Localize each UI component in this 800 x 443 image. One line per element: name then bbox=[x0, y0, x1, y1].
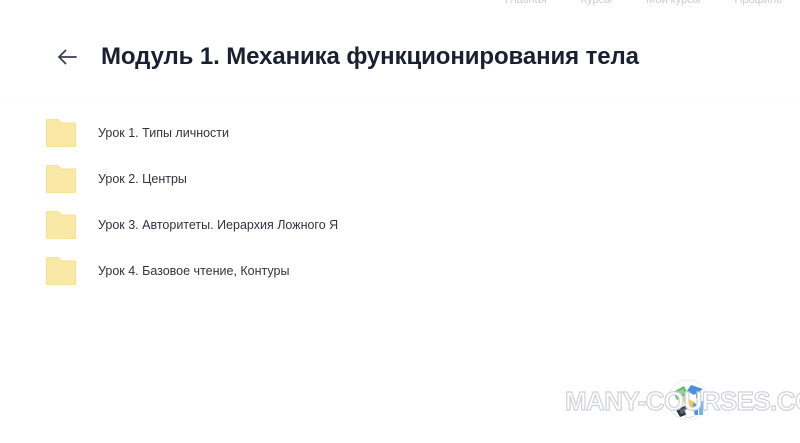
top-navigation-strip: Главная Курсы Мои курсы Профиль bbox=[0, 0, 800, 6]
top-nav-item[interactable]: Профиль bbox=[735, 0, 783, 6]
watermark: MANY-COURSES.COM bbox=[565, 372, 797, 428]
top-nav-item[interactable]: Курсы bbox=[581, 0, 612, 6]
top-nav-item[interactable]: Главная bbox=[505, 0, 547, 6]
list-item[interactable]: Урок 2. Центры bbox=[0, 156, 800, 202]
arrow-left-icon bbox=[56, 48, 78, 66]
header-divider bbox=[0, 103, 800, 104]
list-item-label: Урок 1. Типы личности bbox=[98, 125, 229, 141]
top-nav-item[interactable]: Мои курсы bbox=[646, 0, 700, 6]
list-item-label: Урок 2. Центры bbox=[98, 171, 187, 187]
page-root: Главная Курсы Мои курсы Профиль Модуль 1… bbox=[0, 0, 800, 443]
list-item-label: Урок 3. Авторитеты. Иерархия Ложного Я bbox=[98, 217, 338, 233]
list-item[interactable]: Урок 1. Типы личности bbox=[0, 110, 800, 156]
back-button[interactable] bbox=[54, 44, 80, 70]
list-item-label: Урок 4. Базовое чтение, Контуры bbox=[98, 263, 289, 279]
watermark-text: MANY-COURSES.COM bbox=[565, 386, 797, 416]
folder-icon bbox=[46, 211, 76, 239]
list-item[interactable]: Урок 3. Авторитеты. Иерархия Ложного Я bbox=[0, 202, 800, 248]
page-title: Модуль 1. Механика функционирования тела bbox=[101, 42, 639, 72]
folder-icon bbox=[46, 257, 76, 285]
lesson-list: Урок 1. Типы личности Урок 2. Центры Уро… bbox=[0, 110, 800, 294]
folder-icon bbox=[46, 119, 76, 147]
page-header: Модуль 1. Механика функционирования тела bbox=[0, 36, 800, 78]
folder-icon bbox=[46, 165, 76, 193]
list-item[interactable]: Урок 4. Базовое чтение, Контуры bbox=[0, 248, 800, 294]
